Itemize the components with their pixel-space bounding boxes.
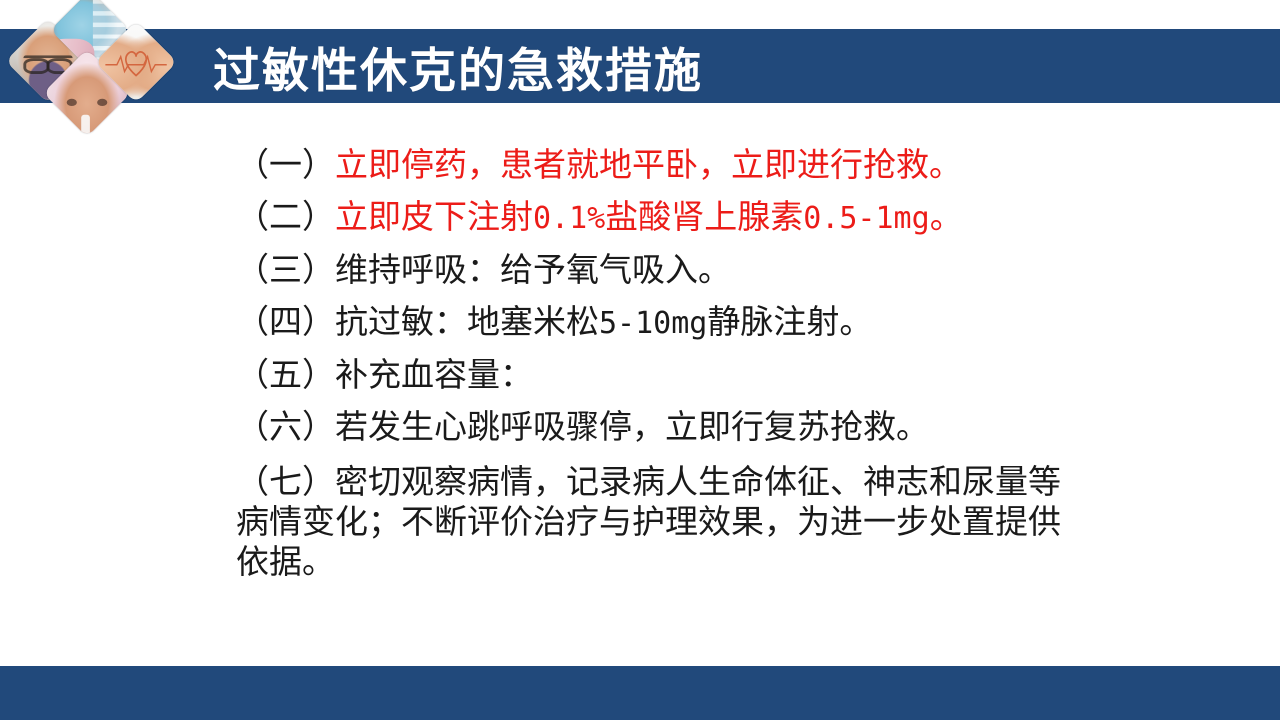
glasses-icon (24, 56, 73, 68)
list-item-marker: （五） (236, 355, 335, 394)
list-item-text: 若发生心跳呼吸骤停，立即行复苏抢救。 (335, 407, 929, 446)
list-item-text-segment: 抗过敏：地塞米松 (335, 302, 599, 341)
list-item-paragraph: （七）密切观察病情，记录病人生命体征、神志和尿量等病情变化；不断评价治疗与护理效… (236, 462, 1066, 582)
list-item-text-segment: 。 (930, 197, 963, 236)
list-item-text: 立即皮下注射0.1%盐酸肾上腺素0.5-1mg。 (335, 197, 963, 236)
list-item-marker: （三） (236, 250, 335, 289)
list-item-marker: （二） (236, 197, 335, 236)
list-item-marker: （六） (236, 407, 335, 446)
list-item-text: 维持呼吸：给予氧气吸入。 (335, 250, 731, 289)
page-title: 过敏性休克的急救措施 (213, 28, 703, 104)
list-item-dose-segment: 0.1% (533, 201, 605, 236)
photo-collage (0, 0, 200, 152)
list-item: （六）若发生心跳呼吸骤停，立即行复苏抢救。 (236, 410, 1246, 443)
list-item: （三）维持呼吸：给予氧气吸入。 (236, 253, 1246, 286)
list-item: （一）立即停药，患者就地平卧，立即进行抢救。 (236, 148, 1246, 181)
list-item-marker: （七） (236, 462, 335, 501)
baby-eyes-detail (65, 98, 108, 105)
list-item-dose-segment: 5-10mg (599, 306, 707, 341)
list-item-text: 密切观察病情，记录病人生命体征、神志和尿量等病情变化；不断评价治疗与护理效果，为… (236, 462, 1061, 581)
body-content: （一）立即停药，患者就地平卧，立即进行抢救。 （二）立即皮下注射0.1%盐酸肾上… (236, 148, 1246, 582)
slide-canvas: 过敏性休克的急救措施 (0, 0, 1280, 720)
list-item-text: 立即停药，患者就地平卧，立即进行抢救。 (335, 145, 962, 184)
list-item: （五）补充血容量： (236, 358, 1246, 391)
footer-band (0, 666, 1280, 720)
list-item-marker: （四） (236, 302, 335, 341)
list-item-text: 抗过敏：地塞米松5-10mg静脉注射。 (335, 302, 872, 341)
list-item-text-segment: 立即皮下注射 (335, 197, 533, 236)
list-item: （二）立即皮下注射0.1%盐酸肾上腺素0.5-1mg。 (236, 200, 1246, 234)
list-item: （四）抗过敏：地塞米松5-10mg静脉注射。 (236, 305, 1246, 339)
list-item-text-segment: 盐酸肾上腺素 (605, 197, 803, 236)
list-item-dose-segment: 0.5-1mg (803, 201, 929, 236)
list-item-text-segment: 静脉注射。 (707, 302, 872, 341)
feeding-tube-detail (82, 115, 90, 135)
list-item-text: 补充血容量： (335, 355, 533, 394)
list-item-marker: （一） (236, 145, 335, 184)
heart-ecg-icon (104, 45, 168, 79)
